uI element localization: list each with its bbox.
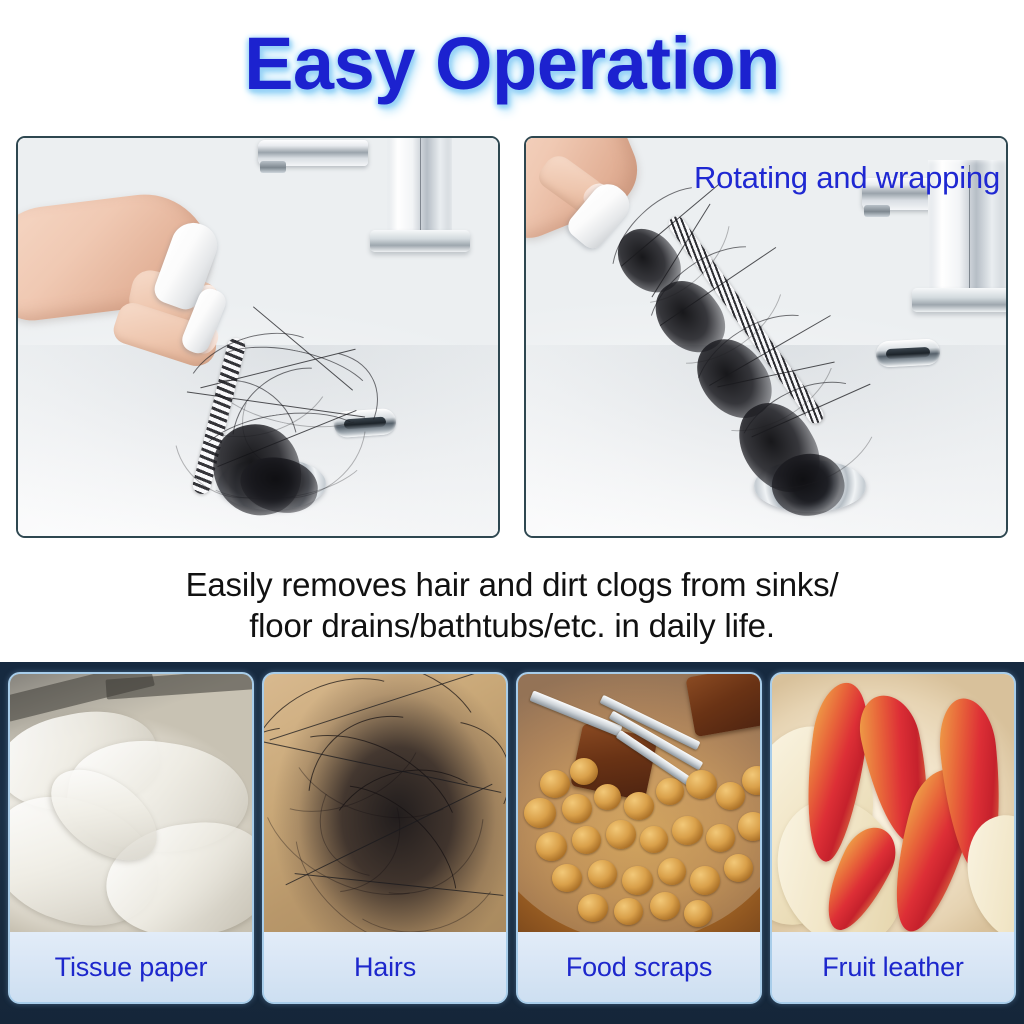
hair-clump: [596, 198, 896, 498]
use-case-card-fruit-leather[interactable]: Fruit leather: [770, 672, 1016, 1004]
header-banner: Easy Operation: [0, 0, 1024, 128]
card-label-hairs: Hairs: [264, 932, 506, 1002]
panel-caption-rotate: Rotating and wrapping: [694, 160, 1000, 196]
photo-hairs: [264, 674, 506, 932]
description-line-2: floor drains/bathtubs/etc. in daily life…: [249, 605, 775, 646]
panel-insert: [16, 136, 500, 538]
card-label-tissue-paper: Tissue paper: [10, 932, 252, 1002]
use-case-card-food-scraps[interactable]: Food scraps: [516, 672, 762, 1004]
photo-fruit-leather: [772, 674, 1014, 932]
card-label-food-scraps: Food scraps: [518, 932, 760, 1002]
description-line-1: Easily removes hair and dirt clogs from …: [186, 564, 839, 605]
panel-rotate: Rotating and wrapping: [524, 136, 1008, 538]
use-case-strip: Tissue paper Hairs: [0, 662, 1024, 1024]
demo-panels: Rotating and wrapping: [16, 136, 1008, 538]
photo-food-scraps: [518, 674, 760, 932]
photo-tissue-paper: [10, 674, 252, 932]
use-case-card-tissue-paper[interactable]: Tissue paper: [8, 672, 254, 1004]
page-title: Easy Operation: [244, 27, 780, 101]
card-label-fruit-leather: Fruit leather: [772, 932, 1014, 1002]
use-case-card-hairs[interactable]: Hairs: [262, 672, 508, 1004]
feature-description: Easily removes hair and dirt clogs from …: [0, 548, 1024, 662]
